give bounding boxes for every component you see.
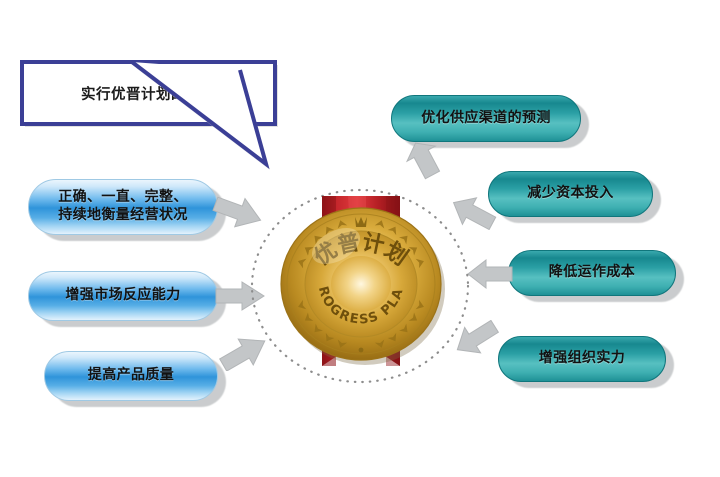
callout-box: 实行优晋计划的益处 [20,60,277,126]
right-item-3[interactable]: 增强组织实力 [498,336,666,382]
left-item-2[interactable]: 提高产品质量 [44,351,218,401]
left-item-0-line1: 正确、一直、完整、 [58,189,188,205]
right-item-1[interactable]: 减少资本投入 [488,171,653,217]
right-item-0-label: 优化供应渠道的预测 [411,110,561,128]
left-item-2-label: 提高产品质量 [78,367,184,385]
left-item-1-label: 增强市场反应能力 [55,287,190,305]
center-medal: 优普计划 PROGRESS PLAN [248,186,472,386]
callout-bubble: 实行优晋计划的益处 [20,60,273,122]
right-item-3-label: 增强组织实力 [529,350,635,368]
arrow-right-2-icon [466,258,514,290]
left-item-1[interactable]: 增强市场反应能力 [28,271,218,321]
left-item-0-line2: 持续地衡量经营状况 [58,207,188,223]
right-item-1-label: 减少资本投入 [517,185,623,203]
medal-icon: 优普计划 PROGRESS PLAN [270,184,452,384]
right-item-2-label: 降低运作成本 [539,264,645,282]
left-item-0[interactable]: 正确、一直、完整、 持续地衡量经营状况 [28,179,218,235]
right-item-0[interactable]: 优化供应渠道的预测 [391,95,581,142]
callout-title: 实行优晋计划的益处 [81,83,216,104]
left-item-0-label: 正确、一直、完整、 持续地衡量经营状况 [48,189,198,225]
diagram-canvas: 实行优晋计划的益处 正确、一直、完整、 持续地衡量经营状况 增强市场反应能力 提… [0,0,720,477]
right-item-2[interactable]: 降低运作成本 [508,250,676,296]
